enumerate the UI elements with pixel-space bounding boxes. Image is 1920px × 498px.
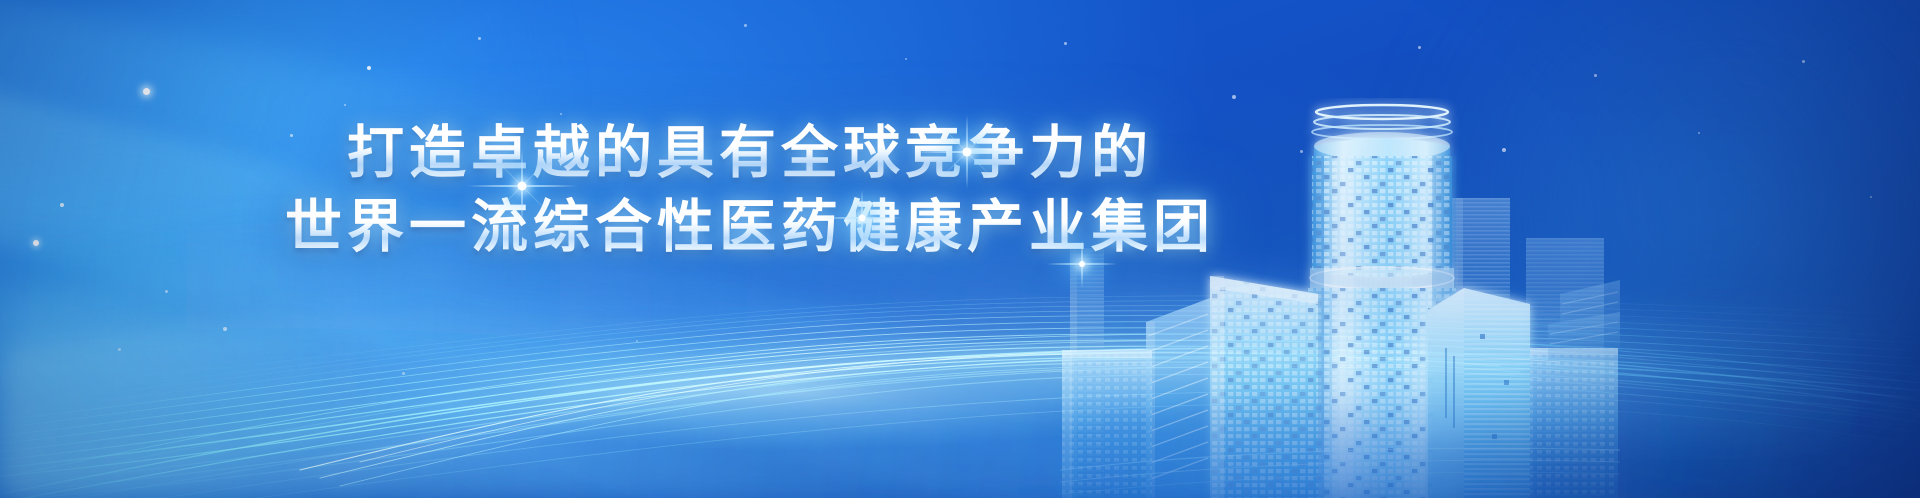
hero-banner: 打造卓越的具有全球竞争力的 世界一流综合性医药健康产业集团: [0, 0, 1920, 498]
vignette-overlay: [0, 0, 1920, 498]
